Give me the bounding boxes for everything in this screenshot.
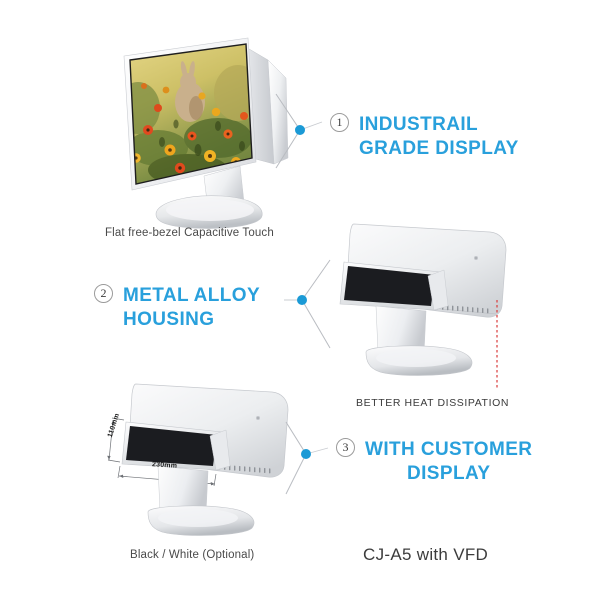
caption-model-name: CJ-A5 with VFD <box>363 545 488 565</box>
feature-1: 1 INDUSTRAIL GRADE DISPLAY <box>330 113 519 161</box>
product-image-front-display <box>118 38 298 228</box>
caption-color-option: Black / White (Optional) <box>130 549 254 561</box>
connector-chevron-left-icon <box>282 258 338 336</box>
feature-2: 2 METAL ALLOY HOUSING <box>94 284 260 332</box>
feature-2-number: 2 <box>94 284 113 303</box>
caption-top-product: Flat free-bezel Capacitive Touch <box>105 227 274 239</box>
feature-3-number: 3 <box>336 438 355 457</box>
feature-3: 3 WITH CUSTOMER DISPLAY <box>336 438 532 486</box>
caption-heat-dissipation: BETTER HEAT DISSIPATION <box>356 397 509 409</box>
feature-2-title: METAL ALLOY HOUSING <box>123 284 260 332</box>
feature-3-title-line2: DISPLAY <box>365 462 532 486</box>
connector-chevron-right-icon <box>282 420 338 498</box>
feature-1-number: 1 <box>330 113 349 132</box>
dashed-callout-line-icon <box>492 300 502 393</box>
connector-chevron-right-icon <box>274 92 330 170</box>
product-image-rear-vent <box>318 218 518 388</box>
product-image-dimensions <box>100 382 300 552</box>
product-feature-poster: Flat free-bezel Capacitive Touch 1 INDUS… <box>0 0 600 600</box>
feature-3-title-line1: WITH CUSTOMER <box>365 438 532 462</box>
feature-1-title: INDUSTRAIL GRADE DISPLAY <box>359 113 519 161</box>
